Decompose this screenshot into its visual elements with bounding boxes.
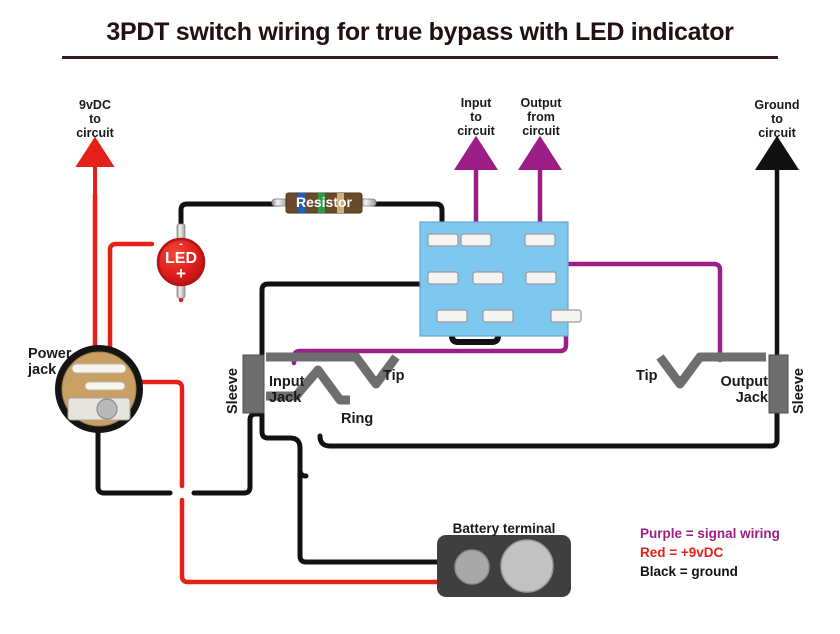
- input-jack-sleeve-bar: [243, 355, 264, 413]
- power-jack-barrel: [97, 399, 117, 419]
- label-power-in: 9vDC to circuit: [55, 98, 135, 140]
- legend-item-purple: Purple = signal wiring: [640, 524, 780, 543]
- label-ground-to-circuit: Ground to circuit: [738, 98, 816, 140]
- wire-led-to-resistor: [181, 204, 279, 232]
- battery-terminal: [437, 535, 571, 597]
- diagram-canvas: 3PDT switch wiring for true bypass with …: [0, 0, 840, 634]
- legend: Purple = signal wiring Red = +9vDC Black…: [640, 524, 780, 581]
- switch-lug-9: [551, 310, 581, 322]
- switch-lug-4: [428, 272, 458, 284]
- output-jack-label: Output Jack: [706, 374, 768, 406]
- wire-sleeve-down-a: [262, 414, 290, 438]
- wire-sleeve-to-battery-neg: [300, 452, 440, 562]
- switch-lug-1: [428, 234, 458, 246]
- battery-terminal-small-contact: [455, 550, 489, 584]
- switch-lug-8: [483, 310, 513, 322]
- resistor-label: Resistor: [286, 195, 362, 211]
- label-power-jack: Power jack: [28, 346, 90, 378]
- output-jack-sleeve-label: Sleeve: [791, 356, 807, 414]
- wire-output-sleeve-hop: [320, 436, 330, 446]
- switch-lug-6: [526, 272, 556, 284]
- led-minus-sign: -: [161, 238, 201, 250]
- switch-lug-5: [473, 272, 503, 284]
- switch-3pdt[interactable]: [420, 222, 581, 336]
- legend-item-red: Red = +9vDC: [640, 543, 780, 562]
- switch-lug-2: [461, 234, 491, 246]
- power-wire-group: [95, 195, 440, 582]
- input-jack-tip-label: Tip: [383, 368, 404, 384]
- wire-red-to-battery-pos: [182, 500, 440, 582]
- wire-powerjack-to-led-anode: [110, 244, 152, 366]
- battery-terminal-label: Battery terminal: [438, 521, 570, 536]
- input-jack-sleeve-label: Sleeve: [225, 356, 241, 414]
- label-output-from-circuit: Output from circuit: [506, 96, 576, 138]
- legend-item-black: Black = ground: [640, 562, 780, 581]
- led-plus-sign: +: [161, 264, 201, 283]
- output-jack-sleeve-bar: [769, 355, 788, 413]
- input-jack-ring-label: Ring: [341, 411, 373, 427]
- wire-powerjack-gnd-b: [194, 414, 262, 493]
- power-jack-lug-mid: [85, 382, 125, 390]
- switch-lug-7: [437, 310, 467, 322]
- input-jack-label: Input Jack: [269, 374, 329, 406]
- output-jack-tip-label: Tip: [636, 368, 657, 384]
- wire-switch-lug4-to-input-sleeve: [262, 284, 430, 355]
- label-input-to-circuit: Input to circuit: [444, 96, 508, 138]
- switch-lug-3: [525, 234, 555, 246]
- battery-terminal-large-contact: [501, 540, 553, 592]
